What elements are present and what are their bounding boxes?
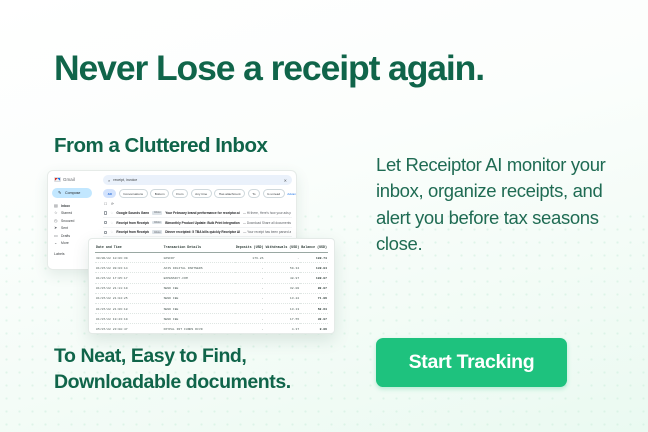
table-header-row: Date and Time Transaction Details Deposi…: [95, 243, 328, 253]
cell-balance: 71.06: [300, 293, 328, 303]
compose-button[interactable]: ✎ Compose: [52, 188, 92, 198]
filter-chip-from[interactable]: From: [172, 189, 188, 198]
search-filter-chips: All Conversations Bottom From Any time H…: [103, 189, 292, 198]
table-header: Date and Time Transaction Details Deposi…: [95, 243, 328, 253]
transactions-table: Date and Time Transaction Details Deposi…: [95, 243, 328, 334]
cell-balance: 138.04: [300, 263, 328, 273]
cell-withdrawal: 13.22: [265, 293, 301, 303]
email-tag: Inbox: [152, 230, 162, 234]
cell-datetime: 01/07/22 17:05:17: [95, 273, 163, 283]
sidebar-item-label: Snoozed: [61, 219, 74, 223]
row-checkbox[interactable]: [104, 211, 107, 214]
email-subject: Your February brand performance for rece…: [165, 211, 240, 215]
pencil-icon: ✎: [58, 191, 62, 195]
sidebar-item-sent[interactable]: ➤ Sent: [54, 226, 96, 230]
promo-banner: Never Lose a receipt again. From a Clutt…: [0, 0, 648, 432]
email-tag: Inbox: [152, 221, 162, 225]
email-subject: Bimonthly Product Update: Bulk Print Int…: [165, 221, 240, 225]
cell-withdrawal: 13.13: [265, 303, 301, 313]
cell-deposit: -: [235, 324, 265, 334]
search-bar[interactable]: ⌕ receipt, invoice ✕: [103, 175, 292, 185]
cell-details: SEND FEE: [163, 303, 235, 313]
table-body: 30/06/22 10:06:39 GXSFRY 176.26 - 198.73…: [95, 253, 328, 335]
cell-deposit: -: [235, 314, 265, 324]
table-row: 01/07/22 19:43:19 SEND FEE - 17.55 38.97: [95, 314, 328, 324]
search-icon: ⌕: [108, 178, 110, 183]
star-icon: ☆: [54, 211, 58, 215]
row-checkbox[interactable]: [104, 231, 107, 234]
sidebar-item-label: Sent: [61, 226, 68, 230]
email-tag: Inbox: [152, 211, 162, 215]
close-icon[interactable]: ✕: [284, 178, 287, 183]
list-item[interactable]: ☆ Google Sounds Game. Inbox Your Februar…: [103, 209, 292, 219]
cell-details: EXPENSIFY.COM: [163, 273, 235, 283]
cell-balance: 8.86: [300, 324, 328, 334]
sidebar-item-snoozed[interactable]: ◷ Snoozed: [54, 219, 96, 223]
cell-datetime: 30/06/22 10:06:39: [95, 253, 163, 263]
email-sender: Google Sounds Game.: [116, 211, 149, 215]
gmail-logo-text: Gmail: [63, 177, 75, 182]
sidebar-item-label: Starred: [61, 211, 72, 215]
filter-chip-has-attachment[interactable]: Has attachment: [214, 189, 245, 198]
cell-withdrawal: 48.97: [265, 273, 301, 283]
column-transaction-details: Transaction Details: [163, 243, 235, 253]
table-row: 01/07/22 21:11:19 SEND FEE - 32.00 88.07: [95, 283, 328, 293]
filter-chip-all[interactable]: All: [103, 189, 116, 198]
cell-withdrawal: 32.00: [265, 283, 301, 293]
transaction-statement-mockup: Date and Time Transaction Details Deposi…: [88, 238, 335, 334]
table-row: 01/07/22 17:05:17 EXPENSIFY.COM - 48.97 …: [95, 273, 328, 283]
cell-deposit: -: [235, 273, 265, 283]
email-sender: Receipt from Receiptor: [116, 221, 149, 225]
subheading-after: To Neat, Easy to Find, Downloadable docu…: [54, 344, 291, 395]
refresh-icon[interactable]: ⟳: [111, 202, 114, 206]
cell-details: AXIS DIGITAL PARTNERS: [163, 263, 235, 273]
column-balance: Balance (USD): [300, 243, 328, 253]
search-input[interactable]: receipt, invoice: [113, 178, 280, 182]
cell-deposit: -: [235, 283, 265, 293]
cell-deposit: 176.26: [235, 253, 265, 263]
advanced-search-link[interactable]: Advanced search: [287, 192, 297, 196]
cell-withdrawal: 59.34: [265, 263, 301, 273]
email-snippet: — Hi there, Here's how your ads performe…: [243, 211, 291, 215]
email-subject: Dinner receipted: 5 TBA bills quickly Re…: [165, 230, 240, 234]
clock-icon: ◷: [54, 219, 58, 223]
table-row: 30/06/22 10:06:39 GXSFRY 176.26 - 198.73: [95, 253, 328, 263]
column-date-and-time: Date and Time: [95, 243, 163, 253]
email-snippet: — Download Share all documents — new bul…: [243, 221, 291, 225]
star-icon[interactable]: ☆: [110, 221, 113, 225]
column-withdrawals: Withdrawals (USD): [265, 243, 301, 253]
sidebar-item-drafts[interactable]: ▭ Drafts: [54, 234, 96, 238]
cell-deposit: -: [235, 293, 265, 303]
list-item[interactable]: ☆ Receipt from Receiptor Inbox Bimonthly…: [103, 218, 292, 228]
sidebar-item-label: Inbox: [61, 204, 70, 208]
filter-chip-conversations[interactable]: Conversations: [119, 189, 148, 198]
cell-details: GXSFRY: [163, 253, 235, 263]
email-sender: Receipt from Receiptor: [116, 230, 149, 234]
select-all-checkbox[interactable]: ☐: [104, 202, 107, 206]
cell-balance: 198.73: [300, 253, 328, 263]
filter-chip-to[interactable]: To: [248, 189, 260, 198]
cell-details: PAYPAL INT FUNDS RCVD: [163, 324, 235, 334]
subheading-after-line1: To Neat, Easy to Find,: [54, 344, 291, 370]
cell-datetime: 01/07/22 21:11:19: [95, 283, 163, 293]
send-icon: ➤: [54, 226, 58, 230]
cell-deposit: -: [235, 263, 265, 273]
table-row: 01/07/22 21:06:18 SEND FEE - 13.13 58.63: [95, 303, 328, 313]
cell-deposit: -: [235, 303, 265, 313]
value-proposition-text: Let Receiptor AI monitor your inbox, org…: [376, 152, 614, 258]
inbox-icon: ▤: [54, 204, 58, 208]
draft-icon: ▭: [54, 234, 58, 238]
list-item[interactable]: ☆ Receipt from Receiptor Inbox Dinner re…: [103, 228, 292, 238]
chevron-down-icon: ⌄: [54, 241, 58, 245]
gmail-envelope-icon: [54, 177, 61, 182]
cell-datetime: 01/07/22 21:04:25: [95, 293, 163, 303]
list-toolbar: ☐ ⟳: [104, 202, 292, 206]
subheading-after-line2: Downloadable documents.: [54, 370, 291, 396]
cell-balance: 108.07: [300, 273, 328, 283]
subheading-before: From a Cluttered Inbox: [54, 134, 267, 158]
row-checkbox[interactable]: [104, 221, 107, 224]
table-row: 01/07/22 09:03:14 AXIS DIGITAL PARTNERS …: [95, 263, 328, 273]
cell-details: SEND FEE: [163, 283, 235, 293]
gmail-logo: Gmail: [54, 177, 96, 182]
table-row: 05/07/22 23:08:47 PAYPAL INT FUNDS RCVD …: [95, 324, 328, 334]
cell-balance: 58.63: [300, 303, 328, 313]
cell-datetime: 01/07/22 21:06:18: [95, 303, 163, 313]
cell-datetime: 05/07/22 23:08:47: [95, 324, 163, 334]
sidebar-item-label: More: [61, 241, 69, 245]
star-icon[interactable]: ☆: [110, 230, 113, 234]
cell-balance: 88.07: [300, 283, 328, 293]
start-tracking-button[interactable]: Start Tracking: [376, 338, 567, 387]
email-snippet: — Your receipt has been parsed and filed…: [243, 230, 291, 234]
cell-datetime: 01/07/22 19:43:19: [95, 314, 163, 324]
cell-details: SEND FEE: [163, 293, 235, 303]
filter-chip-is-unread[interactable]: Is unread: [263, 189, 285, 198]
cell-withdrawal: -: [265, 253, 301, 263]
cell-withdrawal: 17.55: [265, 314, 301, 324]
cell-details: SEND FEE: [163, 314, 235, 324]
sidebar-item-starred[interactable]: ☆ Starred: [54, 211, 96, 215]
star-icon[interactable]: ☆: [110, 211, 113, 215]
compose-label: Compose: [65, 191, 80, 195]
cell-balance: 38.97: [300, 314, 328, 324]
page-title: Never Lose a receipt again.: [54, 48, 484, 89]
table-row: 01/07/22 21:04:25 SEND FEE - 13.22 71.06: [95, 293, 328, 303]
filter-chip-any-time[interactable]: Any time: [191, 189, 212, 198]
sidebar-item-label: Drafts: [61, 234, 70, 238]
sidebar-item-inbox[interactable]: ▤ Inbox: [54, 204, 96, 208]
filter-chip-bottom[interactable]: Bottom: [150, 189, 169, 198]
cell-datetime: 01/07/22 09:03:14: [95, 263, 163, 273]
column-deposits: Deposits (USD): [235, 243, 265, 253]
cell-withdrawal: 4.37: [265, 324, 301, 334]
